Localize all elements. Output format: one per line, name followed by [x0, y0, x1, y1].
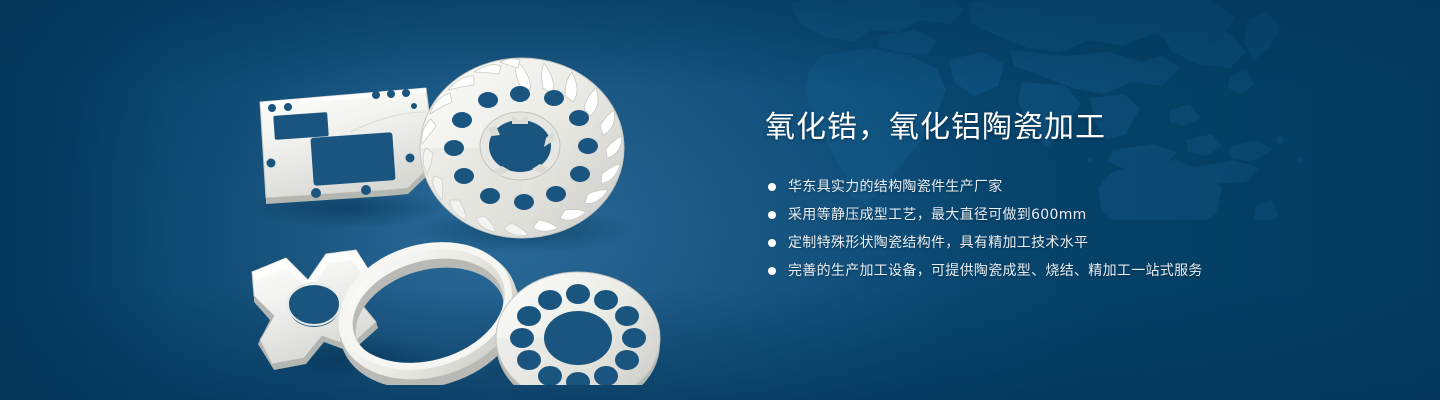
- list-item: 华东具实力的结构陶瓷件生产厂家: [765, 176, 1325, 198]
- bullet-dot-icon: [768, 267, 776, 275]
- bullet-dot-icon: [768, 239, 776, 247]
- bullet-dot-icon: [768, 183, 776, 191]
- list-item-label: 完善的生产加工设备，可提供陶瓷成型、烧结、精加工一站式服务: [788, 260, 1203, 282]
- list-item: 完善的生产加工设备，可提供陶瓷成型、烧结、精加工一站式服务: [765, 260, 1325, 282]
- hero-banner: 氧化锆，氧化铝陶瓷加工 华东具实力的结构陶瓷件生产厂家 采用等静压成型工艺，最大…: [0, 0, 1440, 400]
- bullet-dot-icon: [768, 211, 776, 219]
- ceramic-products-image: [230, 40, 710, 385]
- list-item: 定制特殊形状陶瓷结构件，具有精加工技术水平: [765, 232, 1325, 254]
- banner-text-block: 氧化锆，氧化铝陶瓷加工 华东具实力的结构陶瓷件生产厂家 采用等静压成型工艺，最大…: [765, 108, 1325, 288]
- ceramic-vaned-impeller: [420, 58, 624, 238]
- ceramic-machined-plate: [260, 88, 435, 204]
- list-item-label: 采用等静压成型工艺，最大直径可做到600mm: [788, 204, 1087, 226]
- ceramic-holed-disc: [496, 272, 660, 385]
- list-item-label: 华东具实力的结构陶瓷件生产厂家: [788, 176, 1003, 198]
- list-item: 采用等静压成型工艺，最大直径可做到600mm: [765, 204, 1325, 226]
- list-item-label: 定制特殊形状陶瓷结构件，具有精加工技术水平: [788, 232, 1088, 254]
- page-title: 氧化锆，氧化铝陶瓷加工: [765, 108, 1325, 148]
- feature-list: 华东具实力的结构陶瓷件生产厂家 采用等静压成型工艺，最大直径可做到600mm 定…: [765, 176, 1325, 282]
